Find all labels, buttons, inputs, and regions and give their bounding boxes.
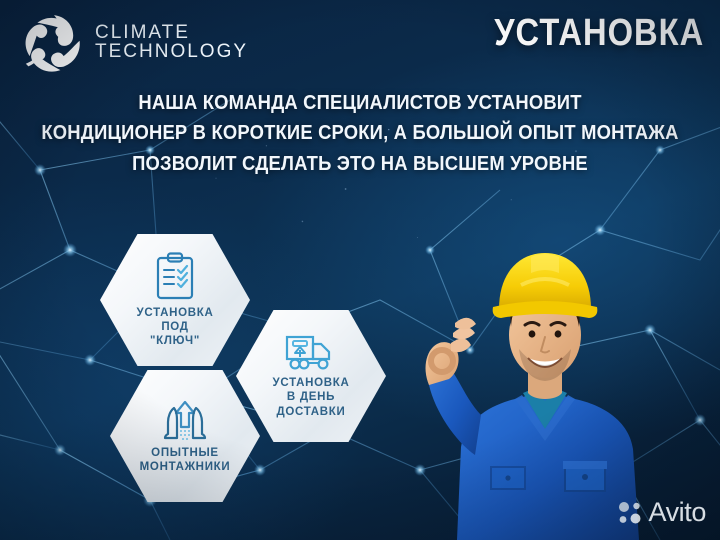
avito-label: Avito — [648, 497, 706, 528]
vignette-overlay — [0, 0, 720, 540]
avito-watermark: Avito — [617, 497, 706, 528]
avito-dots-icon — [617, 500, 643, 526]
promo-banner: CLIMATE TECHNOLOGY УСТАНОВКА НАША КОМАНД… — [0, 0, 720, 540]
